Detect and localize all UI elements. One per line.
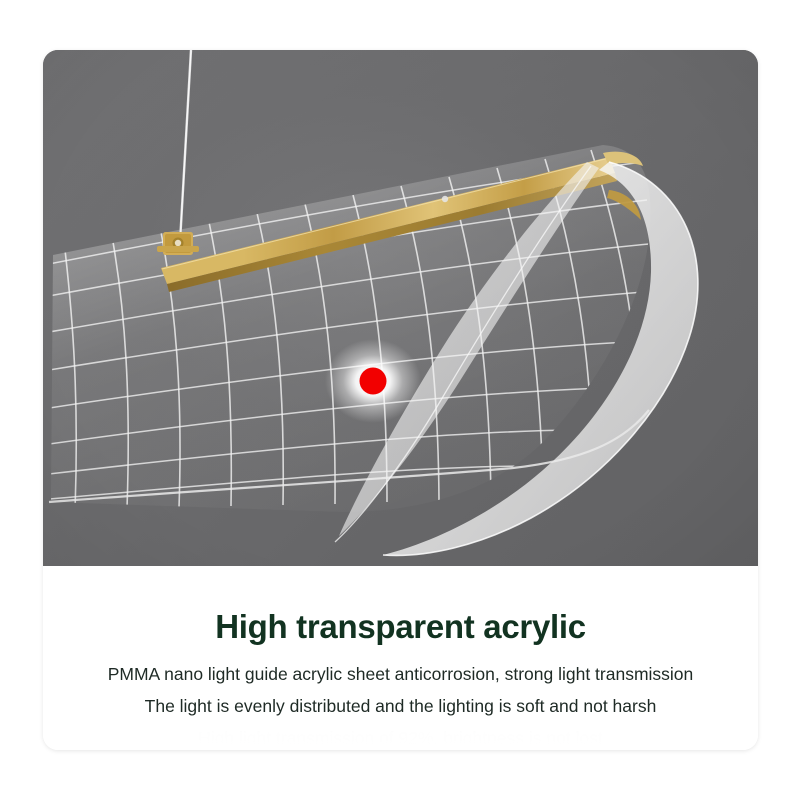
light-spot-group <box>325 339 421 423</box>
page-root: High transparent acrylic PMMA nano light… <box>0 0 800 800</box>
product-card: High transparent acrylic PMMA nano light… <box>43 50 758 750</box>
mount-bracket <box>157 232 199 255</box>
rail-screw-icon <box>442 196 448 202</box>
page-title: High transparent acrylic <box>43 610 758 643</box>
red-dot-marker <box>360 368 387 395</box>
suspension-cable-group <box>178 50 191 248</box>
description-line-3: High light transmission of 92%, brightne… <box>43 730 758 748</box>
info-panel: High transparent acrylic PMMA nano light… <box>43 566 758 750</box>
product-photo <box>43 50 758 566</box>
pendant-light-illustration <box>43 50 758 566</box>
description-line-2: The light is evenly distributed and the … <box>43 698 758 716</box>
description-line-1: PMMA nano light guide acrylic sheet anti… <box>43 666 758 684</box>
